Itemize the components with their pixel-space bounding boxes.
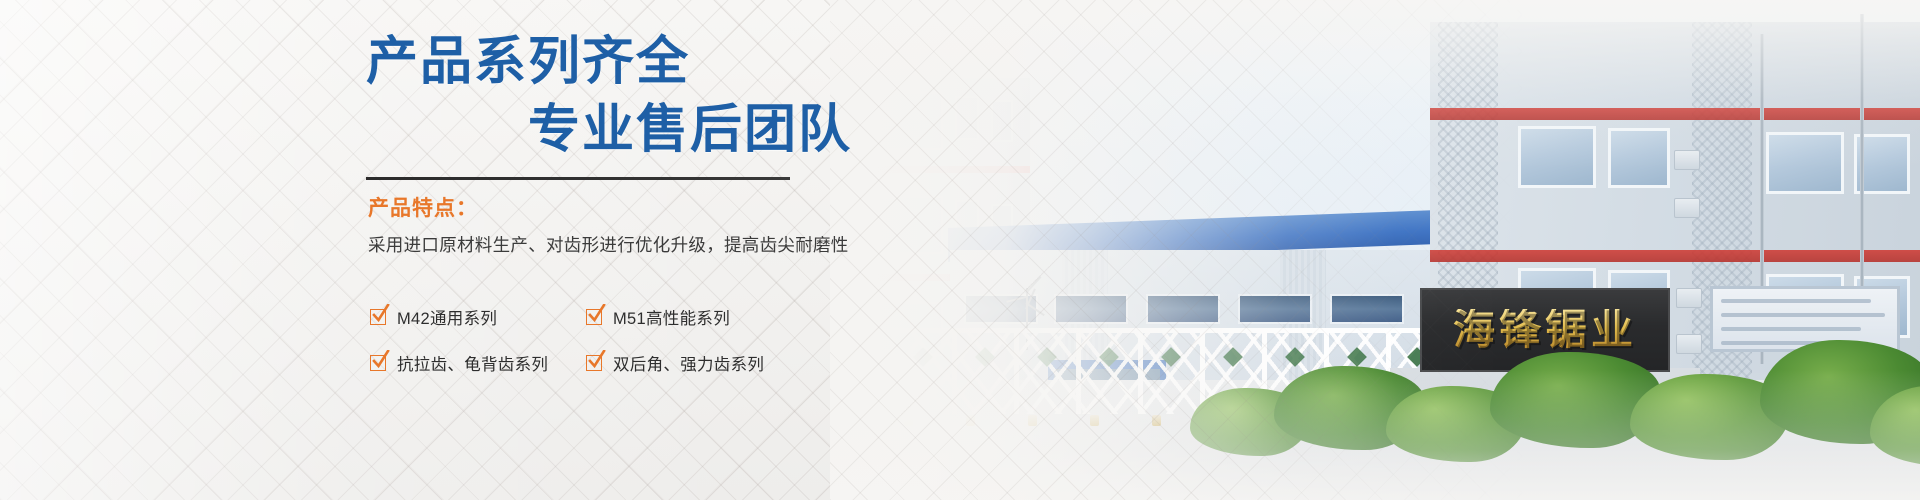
checklist-item-label: 抗拉齿、龟背齿系列	[397, 351, 548, 375]
checklist-item-label: M42通用系列	[397, 305, 497, 329]
checklist-item: M51高性能系列	[586, 305, 810, 329]
product-series-checklist: M42通用系列 M51高性能系列 抗拉齿、龟背齿系列	[370, 294, 810, 386]
checklist-item-label: 双后角、强力齿系列	[613, 351, 764, 375]
headline-line-2: 专业售后团队	[528, 104, 852, 156]
factory-photo-scene: 海锋锯业	[830, 0, 1920, 500]
headline-line-1: 产品系列齐全	[366, 36, 690, 88]
banner-copy: 产品系列齐全 专业售后团队 产品特点： 采用进口原材料生产、对齿形进行优化升级，…	[0, 0, 880, 500]
checkbox-checked-icon	[586, 309, 602, 325]
promo-banner: 海锋锯业 产品系列齐全 专业售后团队	[0, 0, 1920, 500]
feature-description: 采用进口原材料生产、对齿形进行优化升级，提高齿尖耐磨性	[368, 232, 849, 257]
headline-divider	[366, 177, 790, 180]
checklist-item: M42通用系列	[370, 305, 586, 329]
feature-title: 产品特点：	[368, 192, 478, 222]
photo-lattice-overlay	[830, 0, 1920, 500]
checklist-item-label: M51高性能系列	[613, 305, 730, 329]
checkbox-checked-icon	[586, 355, 602, 371]
factory-photo: 海锋锯业	[830, 0, 1920, 500]
checkbox-checked-icon	[370, 355, 386, 371]
checklist-item: 抗拉齿、龟背齿系列	[370, 351, 586, 375]
checklist-item: 双后角、强力齿系列	[586, 351, 810, 375]
checkbox-checked-icon	[370, 309, 386, 325]
